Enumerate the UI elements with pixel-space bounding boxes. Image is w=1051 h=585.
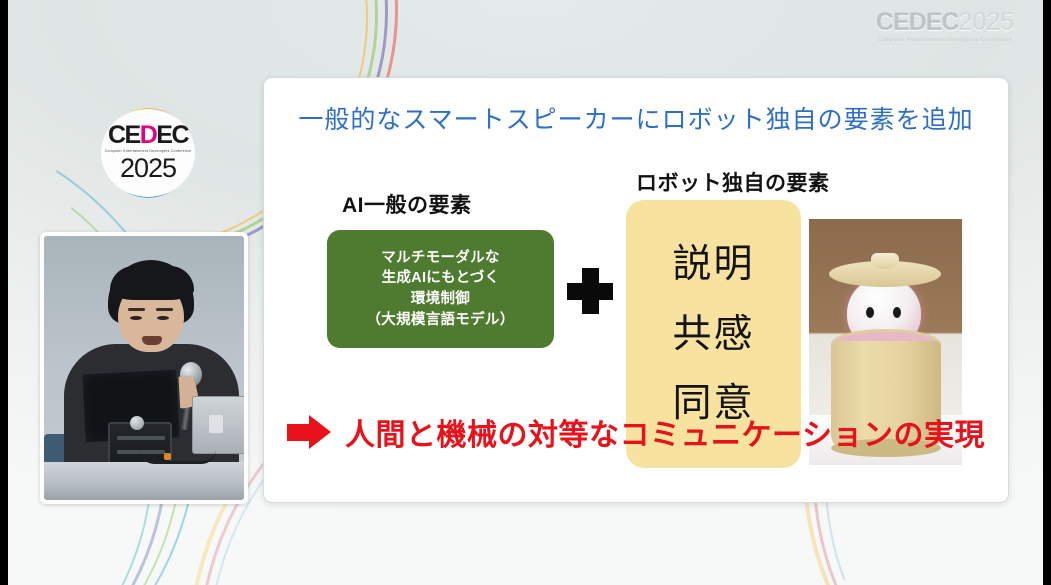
screen: CEDEC2025 Computer Entertainment Develop… <box>0 0 1051 585</box>
cedec-wordmark-year: 2025 <box>958 8 1014 36</box>
logo-inner-disc: CEDEC Computer Entertainment Developers … <box>101 109 195 197</box>
logo-name-accent: D <box>140 121 157 149</box>
ai-line: 環境制御 <box>411 289 470 310</box>
speaker-fringe <box>110 266 194 300</box>
plus-icon <box>567 268 613 314</box>
speaker-eye-right <box>157 316 169 320</box>
desk-surface <box>44 462 244 500</box>
speaker-eyebrow-left <box>128 308 145 311</box>
ai-elements-box: マルチモーダルな 生成AIにもとづく 環境制御 （大規模言語モデル） <box>327 230 554 348</box>
presentation-background: CEDEC2025 Computer Entertainment Develop… <box>8 0 1043 585</box>
heading-robot-elements: ロボット独自の要素 <box>636 167 830 197</box>
speaker-video-thumbnail <box>40 232 248 504</box>
rack-slot <box>117 436 165 440</box>
rack-knob <box>130 416 144 430</box>
arrow-head <box>309 415 331 449</box>
robot-hat-top <box>871 253 899 269</box>
robot-element-item: 説明 <box>672 245 754 284</box>
slide-panel: 一般的なスマートスピーカーにロボット独自の要素を追加 AI一般の要素 ロボット独… <box>263 77 1009 503</box>
ai-line: 生成AIにもとづく <box>382 268 500 289</box>
cedec-wordmark-text: CEDEC2025 <box>865 10 1025 35</box>
conclusion-text: 人間と機械の対等なコミュニケーションの実現 <box>345 410 985 454</box>
cedec-wordmark-logo: CEDEC2025 Computer Entertainment Develop… <box>865 10 1025 43</box>
plus-bar-vertical <box>582 268 599 314</box>
robot-eye-right <box>893 307 901 318</box>
robot-eye-left <box>866 307 874 318</box>
ai-line: マルチモーダルな <box>381 248 499 269</box>
heading-ai-elements: AI一般の要素 <box>342 189 472 219</box>
laptop-computer <box>192 396 244 454</box>
speaker-eyebrow-right <box>156 308 173 311</box>
logo-name: CEDEC <box>108 124 188 148</box>
speaker-video-frame <box>44 236 244 500</box>
logo-name-left: CE <box>108 121 140 149</box>
logo-name-right: EC <box>156 121 188 149</box>
cable <box>140 450 216 464</box>
ai-line: （大規模言語モデル） <box>367 310 515 331</box>
cedec-wordmark-subtitle: Computer Entertainment Developers Confer… <box>865 37 1025 43</box>
cedec-circle-logo: CEDEC Computer Entertainment Developers … <box>84 92 212 214</box>
cedec-wordmark-ced: CEDEC <box>876 8 959 36</box>
orange-connector <box>164 453 171 460</box>
speaker-eye-left <box>130 316 142 320</box>
slide-title: 一般的なスマートスピーカーにロボット独自の要素を追加 <box>264 100 1008 136</box>
speaker-mouth <box>142 336 162 345</box>
robot-element-item: 共感 <box>672 315 754 354</box>
conclusion-row: 人間と機械の対等なコミュニケーションの実現 <box>264 410 1008 454</box>
right-arrow-icon <box>287 415 331 450</box>
logo-year: 2025 <box>120 155 176 182</box>
